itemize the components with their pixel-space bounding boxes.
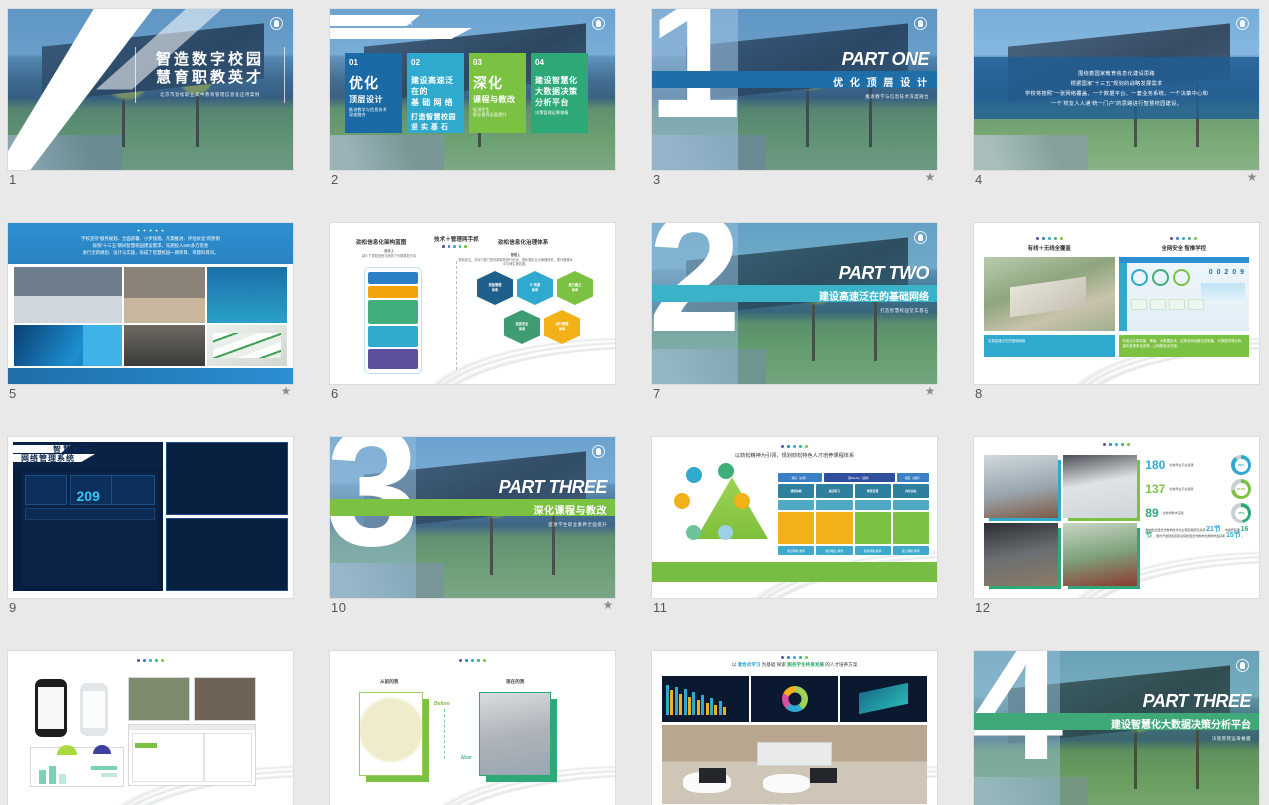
big-metric-value: 209 [77,488,100,504]
part-subtitle: 推进教学与信息技术深度融合 [833,94,929,100]
now-text: Now [461,755,472,761]
phone-mockup-2 [80,683,108,736]
statement-line-4: 一个‘校友人人通’统一门户”的思路进行智慧校园建设。 [1051,100,1182,107]
phone-mockup-1 [35,679,67,737]
photo-card-4 [1063,523,1137,586]
heading-middle: 技术＋管理两手抓 [434,235,479,243]
slide-thumbnail-9[interactable]: 智慧校园 网络管理系统 209 [8,437,293,598]
photo-card-2 [1063,455,1137,518]
stats-body: 180 位教师在平台建课 90% 137 位教师在平台建起 72.5% [984,455,1251,586]
architecture-stack [364,267,422,374]
stack-row-3 [368,300,418,324]
stat-value: 137 [1145,482,1165,496]
slide-thumbnail-15[interactable]: 以 混合式学习 为基础 探索 服务学生终身发展 的人才培养方案 [652,651,937,805]
star-icon[interactable]: ★ [280,385,292,397]
stats-note: 学校集出混合式教学模式为主观区级研究资源 21节 、市级研究课 16节 、国内开… [1145,527,1251,539]
topology-panel-1 [166,442,288,515]
slide-number-9: 9 [9,600,17,615]
slide-number-7: 7 [653,386,661,401]
hex-3: 能力建立 体系 [557,271,593,305]
stat-label: 位教师教学实践 [1163,511,1227,515]
table-cell: 通识（必修） [778,473,822,482]
hex-4: 信息安全 体系 [504,310,540,344]
bubble-3 [674,493,690,509]
school-emblem-icon [592,17,605,30]
part-title-cn: 深化课程与教改 [499,502,607,517]
slide-number-10: 10 [331,600,346,615]
slide-thumbnail-2[interactable]: 目 录 CONTENT 01 优化 顶层设计 推进教学与信息技术 深度融合 02… [330,9,615,170]
slide-cell-7[interactable]: 2 PART TWO 建设高速泛在的基础网络 打造智慧校园坚实基石 7 ★ [644,214,966,428]
right-title: 全网安全 智推学控 [1119,244,1250,252]
slide-thumbnail-11[interactable]: 以劲松精神为引领，规划劲松特色人才培养课程体系 通识（必修） 通identity… [652,437,937,598]
dashed-connector [444,709,445,759]
toc-card-number: 03 [473,58,522,67]
statement-band: 围绕着国家教育信息化建设思路 根据国家“十三五”规划的战略发展需求 学校将按照“… [974,57,1259,119]
classroom-photo-2 [194,677,256,721]
cover-title-block: 智造数字校园 慧育职教英才 北京市劲松职业高中教育管理信息化应用案例 [135,47,285,103]
two-column-body: 有线＋无线全覆盖 实现高速泛在的基础网络 全网安全 智推学控 [984,237,1249,357]
statement-line-2: 根据国家“十三五”规划的战略发展需求 [1071,80,1163,87]
bar-chart-panel [662,676,749,722]
header-line-3: 进行全新规划、设计与实施，形成了智慧校园一期项目、单题科目问。 [8,249,293,256]
photo-card-3 [984,523,1058,586]
right-note: 管理上 重新定位，并对IT部门的内部架构进行优化，强化落实五大管理体系，提升管理… [458,253,573,267]
part-title-cn: 建设高速泛在的基础网络 [819,288,929,303]
photo-collage [14,267,287,366]
right-note-body: 重新定位，并对IT部门的内部架构进行优化，强化落实五大管理体系，提升管理水平与师… [458,258,572,267]
lms-screenshot [128,724,256,786]
school-emblem-icon [1236,659,1249,672]
toc-card-02[interactable]: 02 建设高速泛在的 基 础 网 络 打造智慧校园 坚 实 基 石 [407,53,464,133]
dashboard-row [662,676,927,722]
table-cell: 提店练习 [816,484,852,498]
slide-cell-3[interactable]: 1 PART ONE 优 化 顶 层 设 计 推进教学与信息技术深度融合 3 ★ [644,0,966,214]
slide-cell-15[interactable]: 以 混合式学习 为基础 探索 服务学生终身发展 的人才培养方案 [644,642,966,805]
stat-row-2: 137 位教师在平台建起 72.5% [1145,479,1251,499]
slide-thumbnail-16[interactable]: 4 PART THREE 建设智慧化大数据决策分析平台 决策管理运筹帷幄 [974,651,1259,805]
part-title-en: PART THREE [1111,691,1251,712]
toc-card-03[interactable]: 03 深化 课程与教改 促进学生 职业素养全面提升 [469,53,526,133]
column-left: 有线＋无线全覆盖 实现高速泛在的基础网络 [984,237,1115,357]
toc-card-number: 01 [349,58,398,67]
slide-thumbnail-5[interactable]: 学校坚持“服务规划、全面部署、小步快跑、凡需推进、评估优化”的原则 按照“十三五… [8,223,293,384]
before-image-frame [359,692,423,776]
left-title: 有线＋无线全覆盖 [984,244,1115,252]
part-title-en: PART TWO [819,263,929,284]
bubble-2 [718,463,734,479]
right-note-title: 管理上 [511,253,521,257]
table-row: 通识（必修） 通identity（选修） 拓展（选修） [778,473,929,482]
table-cell: 操作职业·教学 [816,546,852,555]
stack-row-5 [368,349,418,369]
school-emblem-icon [270,17,283,30]
before-text: Before [434,701,450,707]
part-text-block: PART TWO 建设高速泛在的基础网络 打造智慧校园坚实基石 [819,263,929,314]
table-cell: 情境导航·教学 [855,546,891,555]
slide-number-1: 1 [9,172,17,187]
part-text-block: PART THREE 深化课程与教改 促进学生职业素养全面提升 [499,477,607,528]
header-line-2: 按照“十三五”期间智慧校园建设需求，先期投入500多万资金 [8,242,293,249]
dot-row [442,245,467,248]
toc-card-detail: 打造智慧校园 坚 实 基 石 [411,112,460,132]
left-note-body: 减少了重复投资与浪费了长期重复方向 [362,254,416,258]
collage-photo-6 [207,325,287,366]
slide-cell-11[interactable]: 以劲松精神为引领，规划劲松特色人才培养课程体系 通识（必修） 通identity… [644,428,966,642]
heading-left: 劲松信息化架构蓝图 [356,238,406,246]
table-row: 知识导航·教学 操作职业·教学 情境导航·教学 能力导航·教学 [778,546,929,555]
hex-1: 资金管理 体系 [477,271,513,305]
slide-number-6: 6 [331,386,339,401]
table-cell: 通identity（选修） [824,473,896,482]
toc-card-detail: 推进教学与信息技术 深度融合 [349,107,398,117]
security-dashboard-image: 0 0 2 0 9 [1119,257,1250,331]
slide-number-3: 3 [653,172,661,187]
star-icon[interactable]: ★ [924,171,936,183]
note-end: 。 [1242,534,1245,538]
cover-title-line2: 慧育职教英才 [142,69,278,87]
dashboard-canvas: 209 [22,472,158,586]
left-caption: 实现高速泛在的基础网络 [984,335,1115,357]
after-image-frame [479,692,551,776]
slide-thumbnail-10[interactable]: 3 PART THREE 深化课程与教改 促进学生职业素养全面提升 [330,437,615,598]
photo-grid [984,455,1137,586]
stat-value: 89 [1145,506,1158,520]
table-cell: 知识导航·教学 [778,546,814,555]
toc-card-subtitle: 建设智慧化 大数据决策 分析平台 [535,75,584,108]
campus-render-image [984,257,1115,331]
slide-number-11: 11 [653,600,668,615]
slide-cell-4[interactable]: 围绕着国家教育信息化建设思路 根据国家“十三五”规划的战略发展需求 学校将按照“… [966,0,1269,214]
star-icon[interactable]: ★ [1246,171,1258,183]
toc-card-list: 01 优化 顶层设计 推进教学与信息技术 深度融合 02 建设高速泛在的 基 础… [345,53,588,133]
statement-line-1: 围绕着国家教育信息化建设思路 [1078,70,1155,77]
part-subtitle: 促进学生职业素养全面提升 [499,522,607,528]
table-row [778,500,929,510]
note-a: 21节 [1206,526,1221,533]
bubble-6 [718,525,733,540]
toc-label-cn: 目 录 [386,14,416,27]
slide-cell-9[interactable]: 智慧校园 网络管理系统 209 [0,428,322,642]
column-right: 全网安全 智推学控 0 0 2 0 9 [1119,237,1250,357]
toc-card-title: 优化 [349,73,398,93]
left-note: 技术上 减少了重复投资与浪费了长期重复方向 [344,249,434,258]
school-emblem-icon [914,231,927,244]
slide-cell-12[interactable]: 180 位教师在平台建课 90% 137 位教师在平台建起 72.5% [966,428,1269,642]
hex-2: IT 资源 体系 [517,271,553,305]
collage-photo-3 [207,267,287,323]
part-subtitle: 打造智慧校园坚实基石 [819,308,929,314]
header-line-1: 学校坚持“服务规划、全面部署、小步快跑、凡需推进、评估优化”的原则 [8,235,293,242]
slide-thumbnail-8[interactable]: 有线＋无线全覆盖 实现高速泛在的基础网络 全网安全 智推学控 [974,223,1259,384]
table-cell: 能力导航·教学 [893,546,929,555]
stat-value: 180 [1145,458,1165,472]
stat-label: 位教师在平台建起 [1169,487,1227,491]
toc-card-04[interactable]: 04 建设智慧化 大数据决策 分析平台 决策管理运筹帷幄 [531,53,588,133]
toc-card-detail: 促进学生 职业素养全面提升 [473,107,522,117]
left-label: 从前的我 [380,679,398,685]
curriculum-table: 通识（必修） 通identity（选修） 拓展（选修） 通知体验 提店练习 情景… [778,473,929,557]
slide-cell-13[interactable]: 13 [0,642,322,805]
slide-cell-16[interactable]: 4 PART THREE 建设智慧化大数据决策分析平台 决策管理运筹帷幄 16 [966,642,1269,805]
slide-number-8: 8 [975,386,983,401]
counter-value: 0 0 2 0 9 [1209,269,1245,276]
stack-row-4 [368,326,418,346]
heading-right: 劲松信息化治理体系 [498,238,548,246]
side-panels [166,442,288,591]
slide-cell-14[interactable]: 从前的我 现在的我 Before Now 14 [322,642,644,805]
stat-ring-value: 72.5% [1235,483,1248,496]
toc-card-detail: 决策管理运筹帷幄 [535,110,584,115]
slide-thumbnail-7[interactable]: 2 PART TWO 建设高速泛在的基础网络 打造智慧校园坚实基石 [652,223,937,384]
slide-thumbnail-14[interactable]: 从前的我 现在的我 Before Now [330,651,615,805]
dashboard-layout: 智慧校园 网络管理系统 209 [13,442,288,591]
analytics-screenshot [30,747,124,787]
toc-card-number: 02 [411,58,460,67]
hex-5: 运行管理 体系 [544,310,580,344]
collage-photo-5 [124,325,204,366]
main-dashboard-panel: 智慧校园 网络管理系统 209 [13,442,163,591]
school-emblem-icon [914,17,927,30]
slide-number-12: 12 [975,600,990,615]
slide-number-5: 5 [9,386,17,401]
slide-thumbnail-13[interactable] [8,651,293,805]
stats-column: 180 位教师在平台建课 90% 137 位教师在平台建起 72.5% [1142,455,1251,586]
note-tail: 、国内开发建加区职业院校混合式教学优质教学会获奖 [1153,534,1225,538]
photo-card-1 [984,455,1058,518]
footer-band [8,368,293,384]
topology-panel-2 [166,518,288,591]
slide-cell-2[interactable]: 目 录 CONTENT 01 优化 顶层设计 推进教学与信息技术 深度融合 02… [322,0,644,214]
part-title-cn: 建设智慧化大数据决策分析平台 [1111,716,1251,731]
classroom-photo-1 [128,677,190,721]
header-band: 学校坚持“服务规划、全面部署、小步快跑、凡需推进、评估优化”的原则 按照“十三五… [8,223,293,264]
table-row: 通知体验 提店练习 情景自测 内化达标 [778,484,929,498]
stack-row-1 [368,272,418,284]
part-text-block: PART ONE 优 化 顶 层 设 计 推进教学与信息技术深度融合 [833,49,929,100]
stat-ring: 90% [1231,455,1251,475]
slide-thumbnail-6[interactable]: 劲松信息化架构蓝图 技术＋管理两手抓 劲松信息化治理体系 技术上 减少了重复投资… [330,223,615,384]
table-cell: 情景自测 [855,484,891,498]
star-icon[interactable]: ★ [924,385,936,397]
statement-line-3: 学校将按照“一张网络覆盖、一个数据平台、一套业务系统、一个决策中心和 [1025,90,1208,97]
slide-number-4: 4 [975,172,983,187]
note-c: 15节 [1226,532,1241,539]
part-text-block: PART THREE 建设智慧化大数据决策分析平台 决策管理运筹帷幄 [1111,691,1251,742]
toc-card-number: 04 [535,58,584,67]
note-pre: 学校集出混合式教学模式为主观区级研究资源 [1145,528,1205,532]
3d-map-panel [840,676,927,722]
slide-thumbnail-1[interactable]: 智造数字校园 慧育职教英才 北京市劲松职业高中教育管理信息化应用案例 [8,9,293,170]
stat-row-1: 180 位教师在平台建课 90% [1145,455,1251,475]
cover-subtitle: 北京市劲松职业高中教育管理信息化应用案例 [142,92,278,98]
bubble-1 [686,467,702,483]
stat-ring: 47% [1231,503,1251,523]
stat-label: 位教师在平台建课 [1169,463,1227,467]
slide-cell-8[interactable]: 有线＋无线全覆盖 实现高速泛在的基础网络 全网安全 智推学控 [966,214,1269,428]
table-cell: 拓展（选修） [897,473,929,482]
stat-row-3: 89 位教师教学实践 47% [1145,503,1251,523]
left-note-title: 技术上 [384,249,394,253]
star-icon[interactable]: ★ [602,599,614,611]
slide-cell-5[interactable]: 学校坚持“服务规划、全面部署、小步快跑、凡需推进、评估优化”的原则 按照“十三五… [0,214,322,428]
stat-ring-value: 47% [1235,507,1248,520]
toc-card-01[interactable]: 01 优化 顶层设计 推进教学与信息技术 深度融合 [345,53,402,133]
dashboard-title-2: 网络管理系统 [21,453,75,464]
dot-row-left [984,237,1115,240]
hexagon-group: 资金管理 体系 IT 资源 体系 能力建立 体系 信息安全 体系 运行管理 体系 [470,271,600,344]
toc-card-title: 深化 [473,73,522,93]
donut-chart-panel [751,676,838,722]
dot-row-right [1119,237,1250,240]
collage-photo-2 [124,267,204,323]
slide-thumbnail-3[interactable]: 1 PART ONE 优 化 顶 层 设 计 推进教学与信息技术深度融合 [652,9,937,170]
green-footer-band [652,562,937,582]
slide-thumbnail-4[interactable]: 围绕着国家教育信息化建设思路 根据国家“十三五”规划的战略发展需求 学校将按照“… [974,9,1259,170]
slide-cell-1[interactable]: 智造数字校园 慧育职教英才 北京市劲松职业高中教育管理信息化应用案例 1 [0,0,322,214]
right-label: 现在的我 [506,679,524,685]
toc-label-en: CONTENT [342,27,396,37]
toc-card-subtitle: 课程与教改 [473,94,522,105]
stack-row-2 [368,286,418,298]
part-subtitle: 决策管理运筹帷幄 [1111,736,1251,742]
collage-photo-1 [14,267,122,323]
collage-photo-4 [14,325,122,366]
slide-cell-10[interactable]: 3 PART THREE 深化课程与教改 促进学生职业素养全面提升 10 ★ [322,428,644,642]
toc-card-subtitle: 建设高速泛在的 基 础 网 络 [411,75,460,108]
star-dot-row [8,223,293,232]
bubble-5 [686,525,701,540]
cover-title-line1: 智造数字校园 [142,51,278,69]
table-row [778,512,929,544]
toc-card-subtitle: 顶层设计 [349,94,398,105]
vertical-divider [456,261,457,370]
school-emblem-icon [1236,17,1249,30]
right-caption: 利用云计算收集、等级、大数据技术，实现全网设备归总收集、大数据关联分析、量化呈现… [1119,335,1250,357]
table-cell: 内化达标 [893,484,929,498]
stat-ring-value: 90% [1235,459,1248,472]
part-title-cn: 优 化 顶 层 设 计 [833,74,929,89]
slide-cell-6[interactable]: 劲松信息化架构蓝图 技术＋管理两手抓 劲松信息化治理体系 技术上 减少了重复投资… [322,214,644,428]
table-cell: 通知体验 [778,484,814,498]
slide-thumbnail-12[interactable]: 180 位教师在平台建课 90% 137 位教师在平台建起 72.5% [974,437,1259,598]
school-emblem-icon [592,445,605,458]
slide-thumbnail-grid[interactable]: 智造数字校园 慧育职教英才 北京市劲松职业高中教育管理信息化应用案例 1 目 录 [0,0,1269,805]
slide-number-2: 2 [331,172,339,187]
part-title-en: PART ONE [833,49,929,70]
part-title-en: PART THREE [499,477,607,498]
stat-ring: 72.5% [1231,479,1251,499]
smart-classroom-photo [662,725,927,804]
bubble-4 [734,493,750,509]
